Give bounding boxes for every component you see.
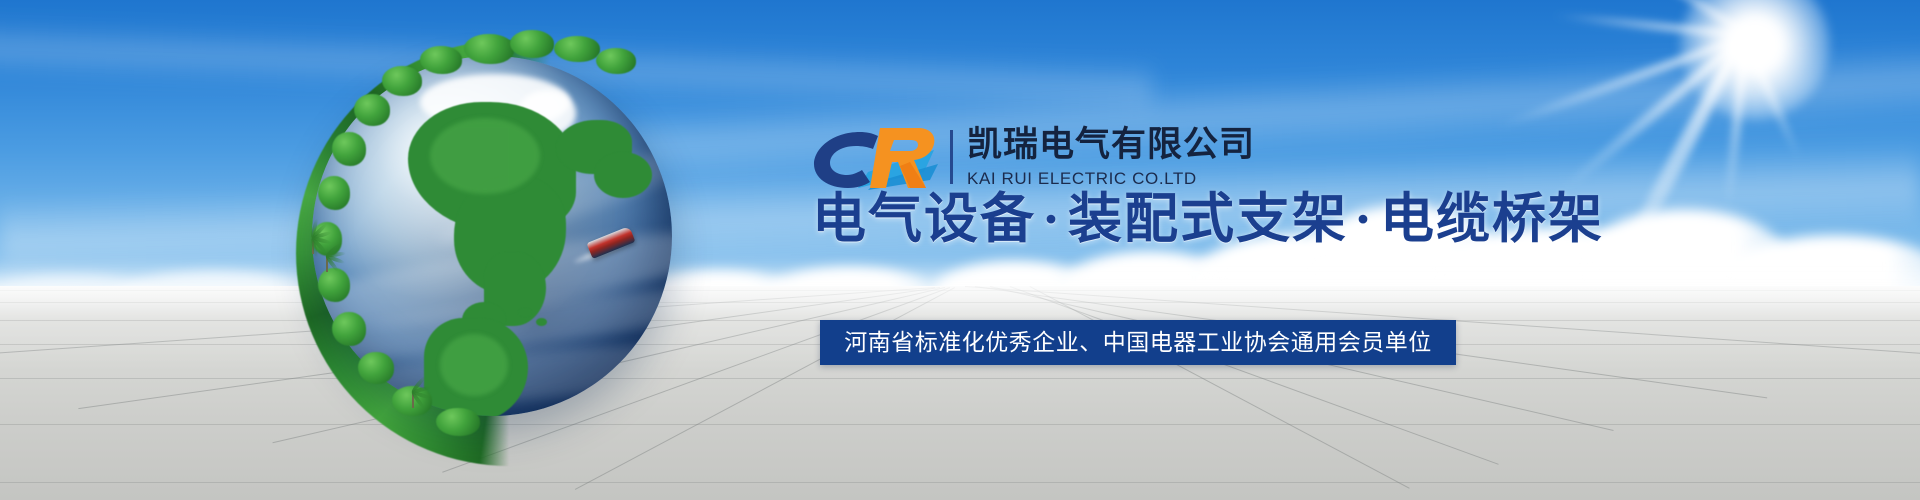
- tagline-part-1: 电气设备: [812, 189, 1036, 249]
- company-name-en: KAI RUI ELECTRIC CO.LTD: [967, 168, 1255, 190]
- brand-text: 凯瑞电气有限公司 KAI RUI ELECTRIC CO.LTD: [967, 125, 1255, 190]
- logo-divider: [950, 130, 953, 184]
- cr-monogram-logo-icon[interactable]: [806, 120, 946, 194]
- credentials-badge: 河南省标准化优秀企业、中国电器工业协会通用会员单位: [820, 320, 1456, 365]
- banner-stage: 凯瑞电气有限公司 KAI RUI ELECTRIC CO.LTD 电气设备·装配…: [0, 0, 1920, 500]
- tagline: 电气设备·装配式支架·电缆桥架: [812, 188, 1604, 250]
- tagline-part-3: 电缆桥架: [1380, 189, 1604, 249]
- tagline-part-2: 装配式支架: [1068, 189, 1348, 249]
- tagline-separator-2: ·: [1348, 189, 1380, 249]
- brand-lockup[interactable]: 凯瑞电气有限公司 KAI RUI ELECTRIC CO.LTD: [806, 120, 1255, 194]
- banner-content: 凯瑞电气有限公司 KAI RUI ELECTRIC CO.LTD 电气设备·装配…: [0, 0, 1920, 500]
- tagline-separator-1: ·: [1036, 189, 1068, 249]
- credentials-badge-text: 河南省标准化优秀企业、中国电器工业协会通用会员单位: [844, 320, 1432, 365]
- company-name-cn: 凯瑞电气有限公司: [967, 125, 1255, 165]
